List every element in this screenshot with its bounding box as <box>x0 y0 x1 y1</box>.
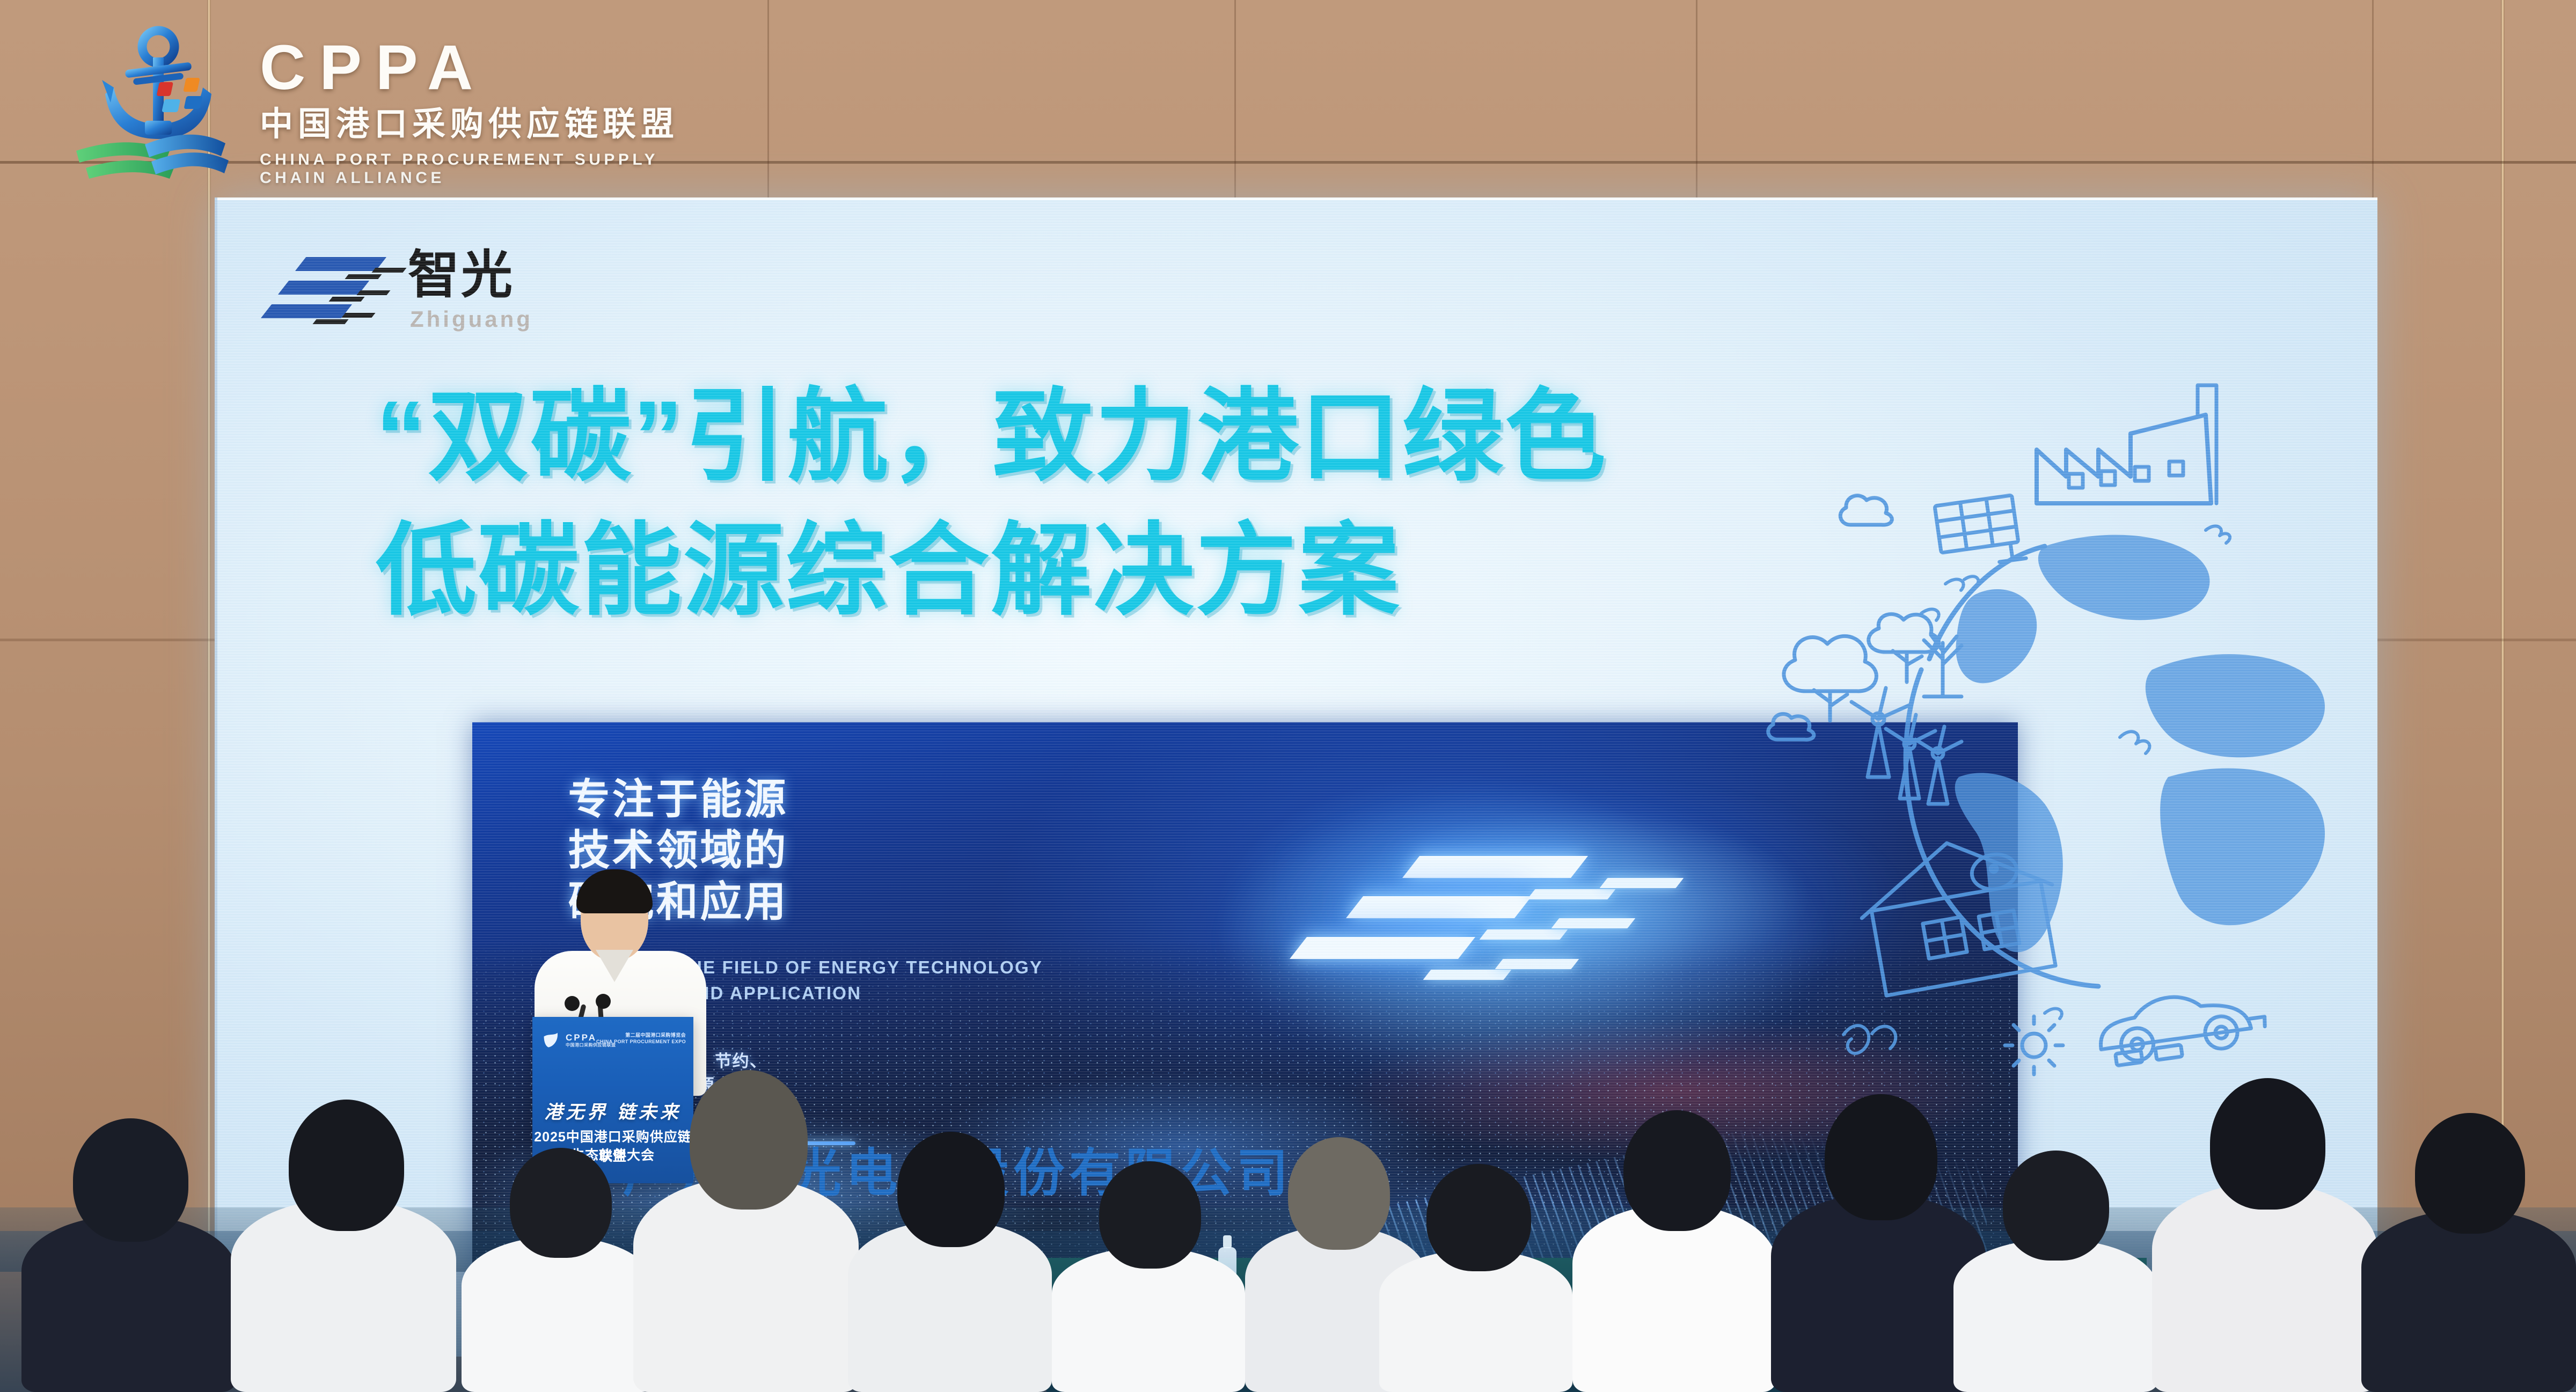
cppa-chinese-name: 中国港口采购供应链联盟 <box>260 104 698 145</box>
audience-member <box>2361 1124 2576 1392</box>
audience-member <box>1953 1167 2157 1392</box>
slide-title-line-2: 低碳能源综合解决方案 <box>376 503 1932 638</box>
screen-top-edge <box>215 197 2377 200</box>
conference-photo-scene: CPPA 中国港口采购供应链联盟 CHINA PORT PROCUREMENT … <box>0 0 2576 1392</box>
audience-member <box>1572 1113 1776 1392</box>
slide-title: “双碳”引航，致力港口绿色 低碳能源综合解决方案 <box>376 369 1932 638</box>
cppa-english-name: CHINA PORT PROCUREMENT SUPPLY CHAIN ALLI… <box>260 151 698 187</box>
microphone-head-left <box>565 996 580 1011</box>
audience-member <box>462 1161 655 1392</box>
audience-foreground <box>0 1016 2576 1392</box>
zhiguang-glow-logo-icon <box>1322 848 1724 1032</box>
audience-member <box>1052 1177 1245 1392</box>
audience-member <box>21 1140 236 1392</box>
anchor-icon <box>64 24 241 185</box>
zhiguang-name-pinyin: Zhiguang <box>410 306 533 332</box>
eco-globe-doodle <box>1744 369 2345 1078</box>
audience-member <box>2152 1070 2377 1392</box>
audience-member <box>848 1140 1052 1392</box>
audience-member <box>231 1091 456 1392</box>
cppa-acronym: CPPA <box>260 36 698 99</box>
zhiguang-slide-logo: 智光 Zhiguang <box>268 248 569 350</box>
speaker-hair <box>576 869 653 913</box>
video-headline-line-1: 专注于能源 <box>568 774 788 825</box>
video-headline-line-2: 技术领域的 <box>568 825 788 876</box>
zhiguang-name-cn: 智光 <box>408 248 514 303</box>
audience-member <box>633 1049 859 1392</box>
microphone-head-right <box>596 994 611 1009</box>
slide-title-line-1: “双碳”引航，致力港口绿色 <box>376 369 1932 503</box>
cppa-wall-logo: CPPA 中国港口采购供应链联盟 CHINA PORT PROCUREMENT … <box>64 19 698 191</box>
zhiguang-logo-icon <box>268 253 402 339</box>
audience-member <box>1379 1183 1572 1392</box>
